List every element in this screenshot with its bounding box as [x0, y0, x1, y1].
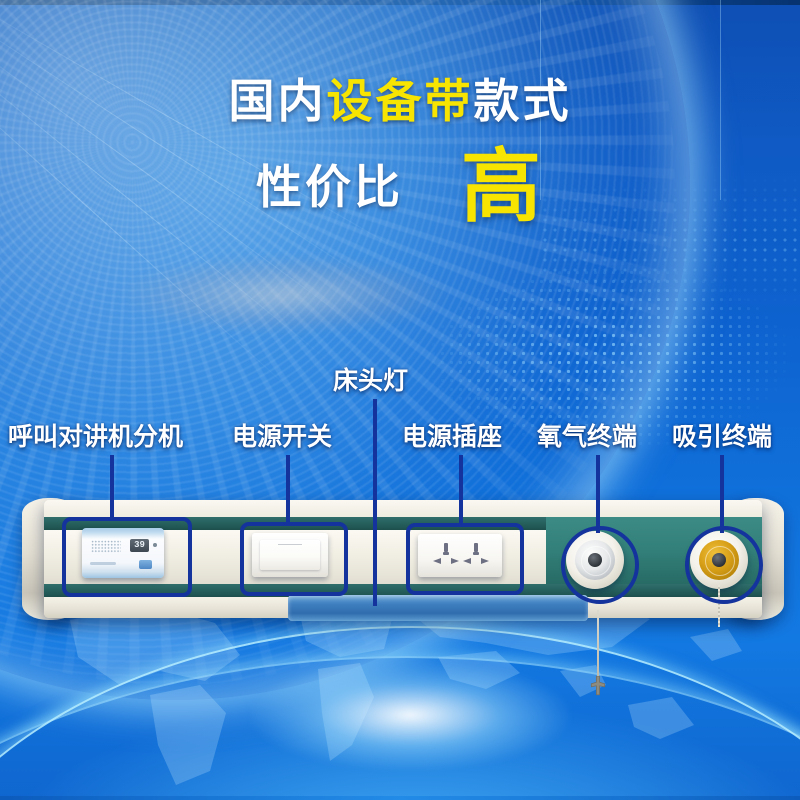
callout-label-bed-reading-lamp: 床头灯 [333, 361, 408, 397]
callout-label-oxygen-terminal: 氧气终端 [537, 417, 637, 453]
callout-label-nurse-call-intercom: 呼叫对讲机分机 [8, 417, 183, 453]
callout-label-power-switch: 电源开关 [232, 417, 332, 453]
callout-label-power-socket: 电源插座 [402, 417, 502, 453]
callout-label-suction-terminal: 吸引终端 [672, 417, 772, 453]
callout-label-group: 呼叫对讲机分机 电源开关 床头灯 电源插座 氧气终端 吸引终端 [0, 0, 800, 800]
promo-banner: 国内设备带款式 性价比 高 呼叫对讲机分机 电源开关 床头灯 电源插座 氧气终端… [0, 0, 800, 800]
